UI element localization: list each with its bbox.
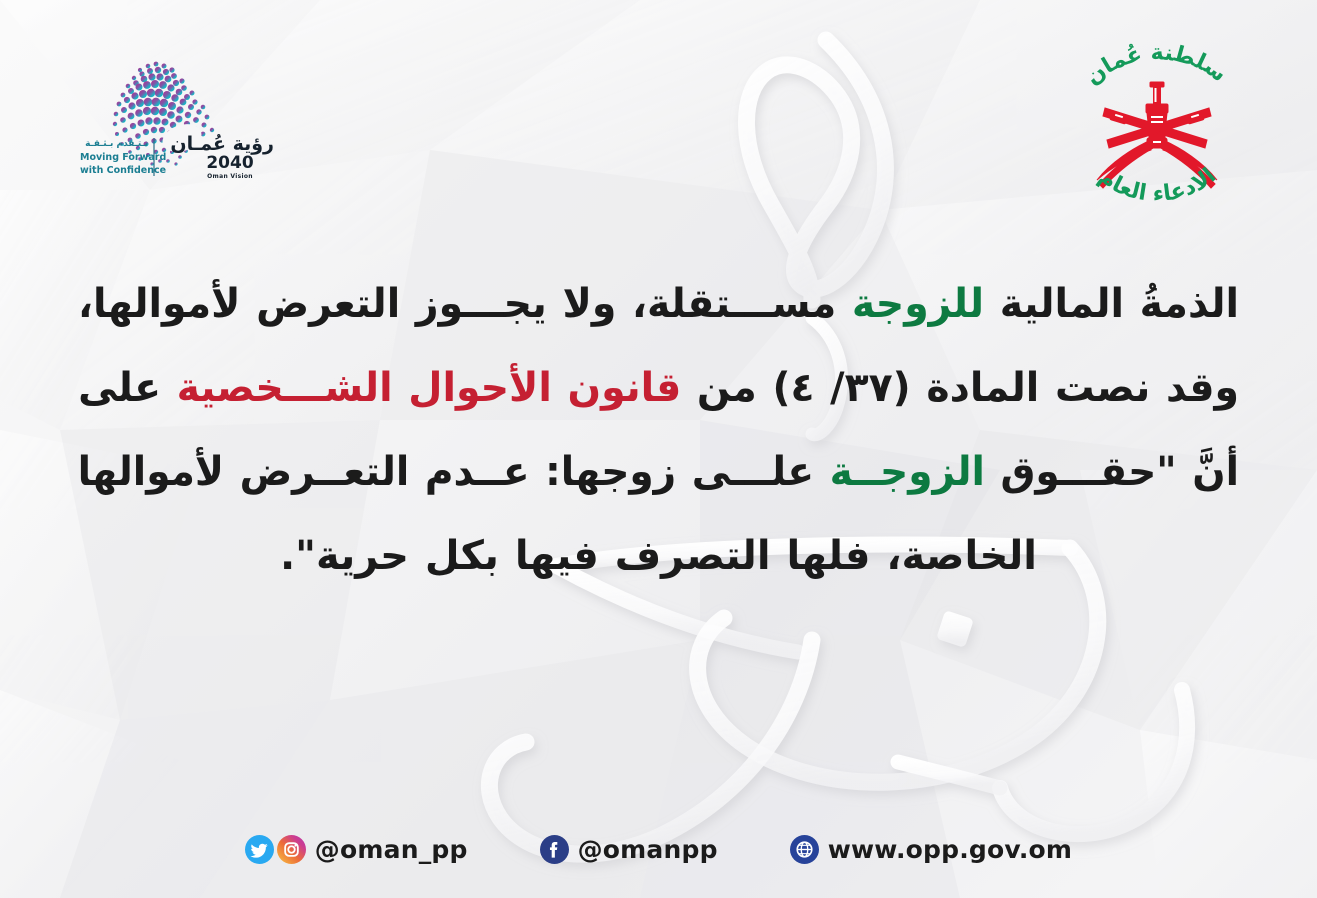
web-icon-group [790, 835, 819, 864]
website-url: www.opp.gov.om [828, 835, 1073, 864]
social-icon-group [540, 835, 569, 864]
footer-contact-bar: @oman_pp @omanpp [0, 835, 1317, 864]
statement-segment-normal: علـــى زوجها: عــدم التعــرض لأموالها [78, 449, 830, 495]
vision-tagline-en-2: with Confidence [80, 165, 166, 176]
sultanate-of-oman-public-prosecution-emblem: سلطنة عُمان [1067, 40, 1247, 205]
social-facebook[interactable]: @omanpp [540, 835, 718, 864]
twitter-icon[interactable] [245, 835, 274, 864]
statement-segment-normal: أنَّ "حقـــوق [985, 449, 1239, 495]
main-statement: الذمةُ المالية للزوجة مســـتقلة، ولا يجـ… [78, 262, 1239, 598]
instagram-icon[interactable] [277, 835, 306, 864]
statement-segment-normal: وقد نصت المادة (٣٧/ ٤) من [681, 365, 1239, 411]
oman-vision-2040-logo: رؤية عُمـان 2040 Oman Vision نـتـقدم بـث… [78, 52, 298, 187]
statement-line: الذمةُ المالية للزوجة مســـتقلة، ولا يجـ… [96, 262, 1239, 346]
globe-icon[interactable] [790, 835, 819, 864]
twitter-instagram-handle: @oman_pp [315, 835, 468, 864]
statement-segment-green: الزوجــة [830, 449, 985, 495]
website-link[interactable]: www.opp.gov.om [790, 835, 1073, 864]
statement-segment-red: قانون الأحوال الشـــخصية [177, 365, 682, 411]
facebook-handle: @omanpp [578, 835, 718, 864]
vision-wordmark-en: Oman Vision [207, 173, 253, 180]
statement-segment-green: للزوجة [852, 281, 984, 327]
statement-segment-normal: الخاصة، فلها التصرف فيها بكل حرية". [280, 533, 1037, 579]
vision-tagline-en-1: Moving Forward [80, 152, 166, 163]
poster-canvas: رؤية عُمـان 2040 Oman Vision نـتـقدم بـث… [0, 0, 1317, 898]
statement-line: أنَّ "حقـــوق الزوجــة علـــى زوجها: عــ… [104, 430, 1239, 514]
statement-segment-normal: الذمةُ المالية [984, 281, 1239, 327]
vision-tagline-ar: نـتـقدم بـثـقـة [85, 139, 148, 149]
facebook-icon[interactable] [540, 835, 569, 864]
social-icon-group [245, 835, 306, 864]
vision-wordmark-ar: رؤية عُمـان [170, 133, 274, 155]
statement-segment-normal: على [78, 365, 177, 411]
social-twitter-instagram[interactable]: @oman_pp [245, 835, 468, 864]
statement-line: وقد نصت المادة (٣٧/ ٤) من قانون الأحوال … [96, 346, 1239, 430]
vision-year: 2040 [206, 153, 253, 173]
statement-line: الخاصة، فلها التصرف فيها بكل حرية". [78, 514, 1239, 598]
statement-segment-normal: مســـتقلة، ولا يجـــوز التعرض لأموالها، [78, 281, 852, 327]
emblem-bottom-text: الادعاء العام [1094, 164, 1221, 205]
